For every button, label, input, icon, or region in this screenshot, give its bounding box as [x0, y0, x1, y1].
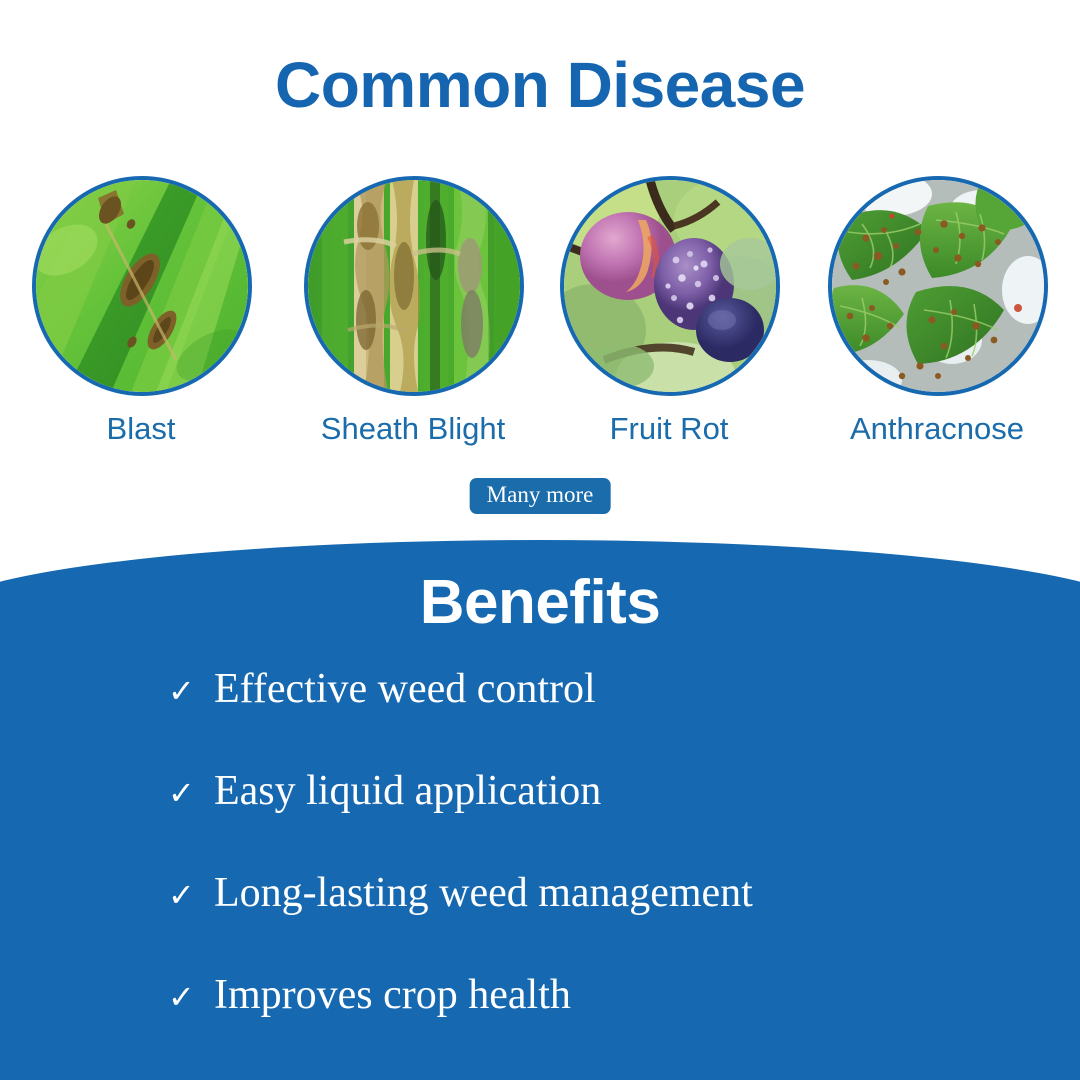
disease-image-circle [32, 176, 252, 396]
page-title: Common Disease [0, 52, 1080, 119]
anthracnose-leaf-spots-photo [832, 180, 1044, 392]
disease-label: Fruit Rot [560, 412, 778, 446]
disease-label: Sheath Blight [304, 412, 522, 446]
disease-label: Anthracnose [828, 412, 1046, 446]
disease-list: Blast [0, 176, 1080, 456]
benefits-section: Benefits ✓ Effective weed control ✓ Easy… [0, 540, 1080, 1080]
disease-image-circle [304, 176, 524, 396]
rice-blast-leaf-lesions-photo [36, 180, 248, 392]
check-icon: ✓ [168, 878, 214, 913]
benefit-item: ✓ Effective weed control [168, 666, 1028, 768]
benefit-item: ✓ Easy liquid application [168, 768, 1028, 870]
poster-canvas: Common Disease [0, 0, 1080, 1080]
benefit-text: Effective weed control [214, 666, 1028, 712]
many-more-button[interactable]: Many more [470, 478, 611, 514]
disease-card-fruit-rot[interactable]: Fruit Rot [560, 176, 778, 446]
disease-image-circle [828, 176, 1048, 396]
benefit-item: ✓ Improves crop health [168, 972, 1028, 1074]
disease-card-anthracnose[interactable]: Anthracnose [828, 176, 1046, 446]
disease-card-blast[interactable]: Blast [32, 176, 250, 446]
plum-fruit-rot-photo [564, 180, 776, 392]
disease-card-sheath-blight[interactable]: Sheath Blight [304, 176, 522, 446]
benefit-text: Easy liquid application [214, 768, 1028, 814]
benefits-title: Benefits [0, 572, 1080, 634]
check-icon: ✓ [168, 674, 214, 709]
check-icon: ✓ [168, 980, 214, 1015]
benefits-list: ✓ Effective weed control ✓ Easy liquid a… [168, 666, 1028, 1074]
benefit-item: ✓ Long-lasting weed management [168, 870, 1028, 972]
check-icon: ✓ [168, 776, 214, 811]
disease-image-circle [560, 176, 780, 396]
disease-label: Blast [32, 412, 250, 446]
rice-sheath-blight-stems-photo [308, 180, 520, 392]
benefit-text: Improves crop health [214, 972, 1028, 1018]
benefit-text: Long-lasting weed management [214, 870, 1028, 916]
